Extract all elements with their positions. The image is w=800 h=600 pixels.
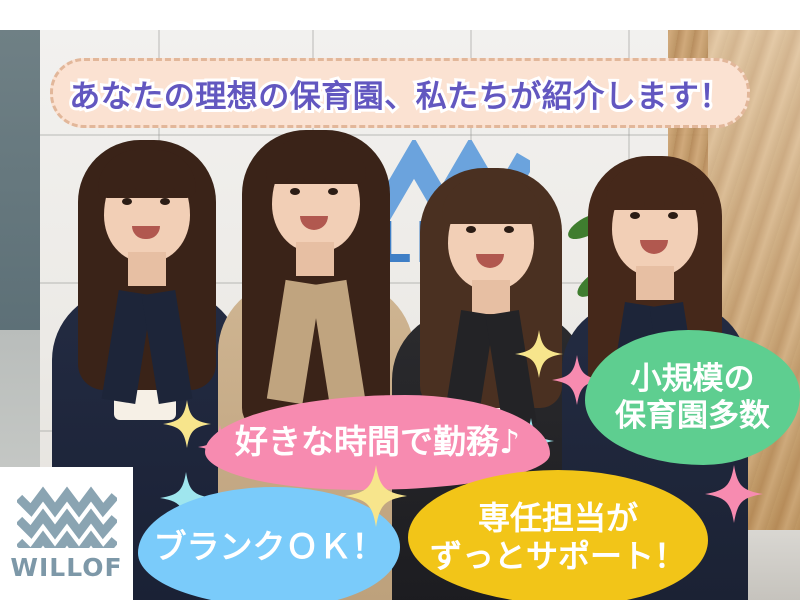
headline-text: あなたの理想の保育園、私たちが紹介します！: [69, 71, 731, 116]
badge-yellow-line2: ずっとサポート！: [430, 538, 686, 576]
left-dark-panel: [0, 30, 44, 330]
badge-pink-text: 好きな時間で勤務♪: [235, 423, 520, 462]
badge-green-line1: 小規模の: [615, 361, 770, 398]
banner-canvas: WILLOF: [0, 0, 800, 600]
badge-yellow: 専任担当が ずっとサポート！: [408, 470, 708, 600]
badge-blue-text: ブランクＯＫ！: [154, 528, 385, 567]
zigzag-wave-mark-icon: [17, 486, 117, 548]
badge-green-line2: 保育園多数: [615, 398, 770, 435]
badge-green: 小規模の 保育園多数: [585, 330, 800, 465]
sparkle-yellow-3-icon: [345, 465, 407, 527]
willof-logo: WILLOF: [0, 467, 133, 600]
headline-banner: あなたの理想の保育園、私たちが紹介します！: [50, 58, 750, 128]
sparkle-pink-3-icon: [705, 465, 763, 523]
badge-yellow-line1: 専任担当が: [430, 500, 686, 538]
logo-wordmark: WILLOF: [10, 553, 122, 582]
